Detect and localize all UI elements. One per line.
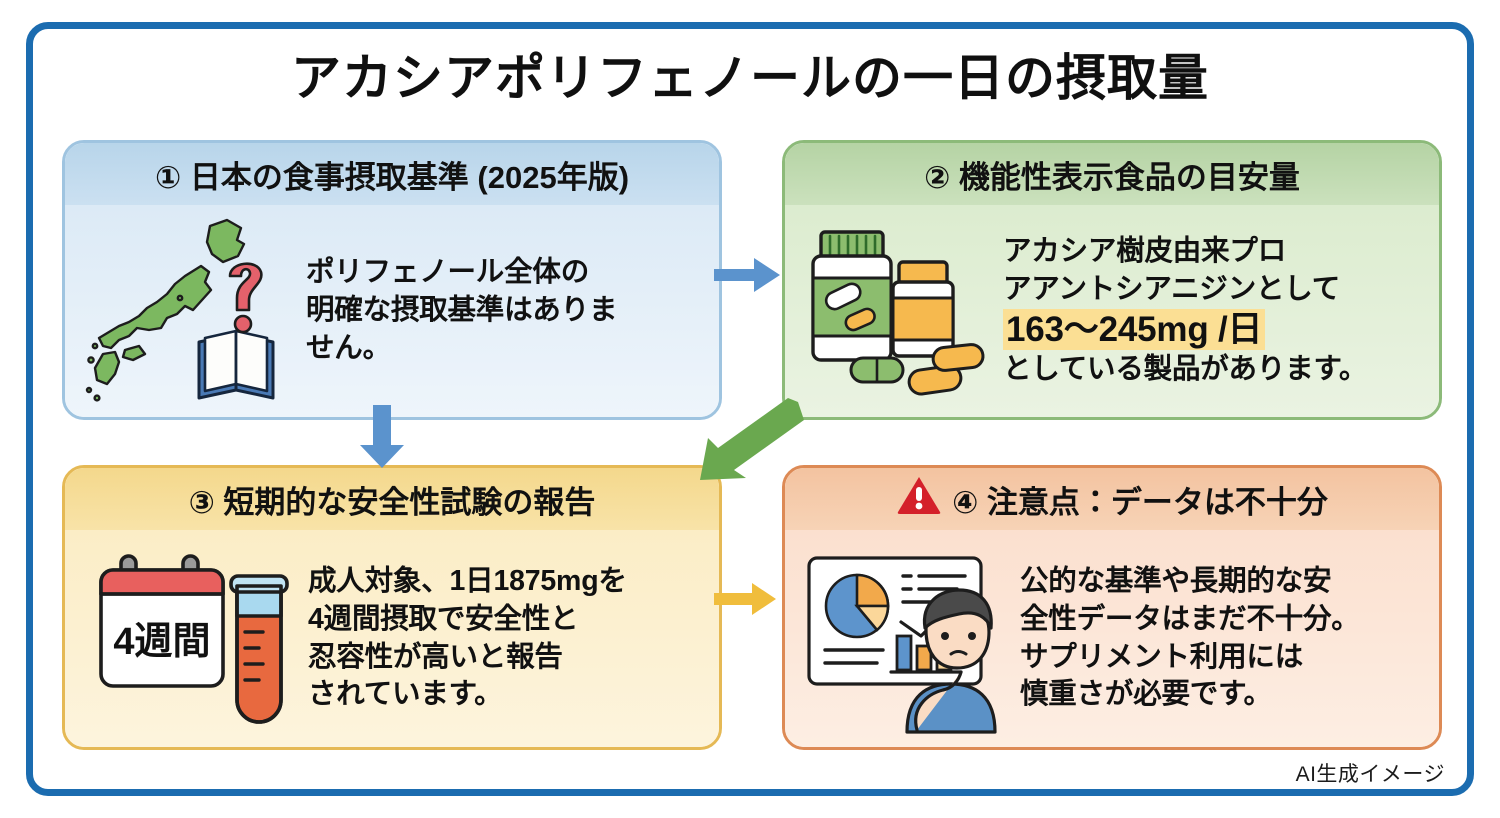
card1-text: ポリフェノール全体の 明確な摂取基準はありま せん。 bbox=[306, 254, 617, 368]
card4-text: 公的な基準や長期的な安 全性データはまだ不十分。 サプリメント利用には 慎重さが… bbox=[1020, 563, 1360, 715]
page-title: アカシアポリフェノールの一日の摂取量 bbox=[0, 38, 1500, 110]
card2-heading: ② 機能性表示食品の目安量 bbox=[785, 143, 1439, 205]
card2-line-2: アアントシアニジンとして bbox=[1003, 271, 1367, 309]
card1-body: ポリフェノール全体の 明確な摂取基準はありま せん。 bbox=[65, 205, 719, 417]
ai-generated-credit: AI生成イメージ bbox=[1296, 758, 1445, 788]
card-functional-food-dosage: ② 機能性表示食品の目安量 bbox=[782, 140, 1442, 420]
card1-line-2: 明確な摂取基準はありま bbox=[306, 292, 617, 330]
card4-line-2: 全性データはまだ不十分。 bbox=[1020, 601, 1360, 639]
card4-line-4: 慎重さが必要です。 bbox=[1020, 676, 1360, 714]
card1-heading: ① 日本の食事摂取基準 (2025年版) bbox=[65, 143, 719, 205]
infographic-page: アカシアポリフェノールの一日の摂取量 ① 日本の食事摂取基準 (2025年版) bbox=[0, 0, 1500, 818]
card3-line-2: 4週間摂取で安全性と bbox=[308, 601, 627, 639]
card4-heading: ④ 注意点：データは不十分 bbox=[952, 477, 1328, 522]
card3-text: 成人対象、1日1875mgを 4週間摂取で安全性と 忍容性が高いと報告 されてい… bbox=[308, 563, 627, 715]
card2-line-1: アカシア樹皮由来プロ bbox=[1003, 233, 1367, 271]
card4-heading-row: ④ 注意点：データは不十分 bbox=[785, 468, 1439, 530]
arrow-card1-to-card3 bbox=[355, 405, 409, 476]
warning-triangle-icon bbox=[896, 475, 942, 523]
arrow-card1-to-card2 bbox=[714, 252, 784, 303]
card3-line-1: 成人対象、1日1875mgを bbox=[308, 563, 627, 601]
card2-dosage-highlight: 163〜245mg /日 bbox=[1003, 309, 1265, 350]
card1-line-1: ポリフェノール全体の bbox=[306, 254, 617, 292]
card2-body: アカシア樹皮由来プロ アアントシアニジンとして 163〜245mg /日 として… bbox=[785, 205, 1439, 417]
card-japan-dietary-standard: ① 日本の食事摂取基準 (2025年版) bbox=[62, 140, 722, 420]
card3-line-4: されています。 bbox=[308, 676, 627, 714]
card4-body: 公的な基準や長期的な安 全性データはまだ不十分。 サプリメント利用には 慎重さが… bbox=[785, 530, 1439, 747]
report-board-thinking-person-icon bbox=[799, 544, 1014, 734]
japan-map-question-book-icon bbox=[81, 214, 296, 409]
card3-line-3: 忍容性が高いと報告 bbox=[308, 639, 627, 677]
calendar-test-tube-icon: 4週間 bbox=[85, 544, 300, 734]
card3-heading: ③ 短期的な安全性試験の報告 bbox=[65, 468, 719, 530]
arrow-card3-to-card4 bbox=[714, 578, 780, 625]
calendar-label: 4週間 bbox=[113, 621, 210, 663]
card2-line-4: としている製品があります。 bbox=[1003, 351, 1367, 389]
card4-line-3: サプリメント利用には bbox=[1020, 639, 1360, 677]
card2-text: アカシア樹皮由来プロ アアントシアニジンとして 163〜245mg /日 として… bbox=[1003, 233, 1367, 390]
card-short-term-safety-study: ③ 短期的な安全性試験の報告 bbox=[62, 465, 722, 750]
card3-body: 4週間 成人対象、1日1875mgを 4週間摂取で安全性と 忍容性が高いと報告 … bbox=[65, 530, 719, 747]
supplement-bottles-icon bbox=[799, 216, 999, 406]
card1-line-3: せん。 bbox=[306, 330, 617, 368]
card4-line-1: 公的な基準や長期的な安 bbox=[1020, 563, 1360, 601]
arrow-card2-to-card3 bbox=[688, 398, 808, 489]
card-caution-insufficient-data: ④ 注意点：データは不十分 bbox=[782, 465, 1442, 750]
